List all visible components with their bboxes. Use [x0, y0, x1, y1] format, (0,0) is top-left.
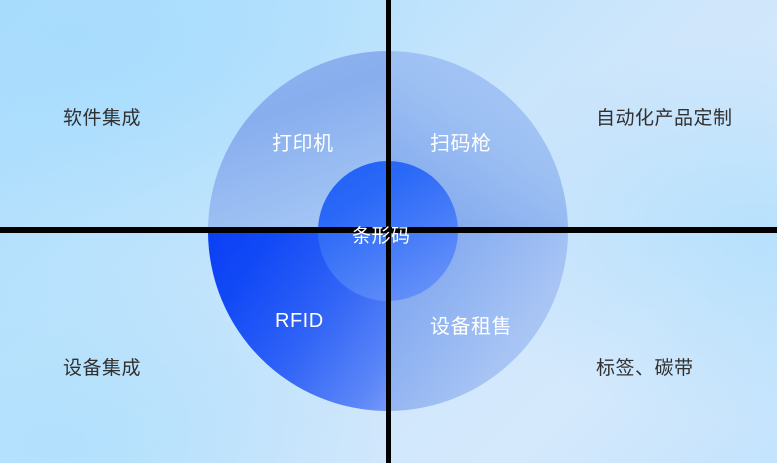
quadrant-label-printer: 打印机 [272, 127, 334, 156]
center-label-barcode: 条形码 [352, 221, 411, 248]
diagram-canvas: 软件集成 自动化产品定制 设备集成 标签、碳带 打印机 扫码枪 RFID 设备租… [0, 0, 777, 463]
quadrant-label-rental: 设备租售 [430, 310, 512, 339]
outer-label-labels-ribbons: 标签、碳带 [596, 353, 694, 380]
outer-label-automation-customization: 自动化产品定制 [596, 103, 733, 130]
quadrant-label-scanner: 扫码枪 [430, 127, 492, 156]
outer-label-software-integration: 软件集成 [63, 103, 141, 130]
outer-label-device-integration: 设备集成 [63, 353, 141, 380]
quadrant-label-rfid: RFID [275, 310, 324, 333]
